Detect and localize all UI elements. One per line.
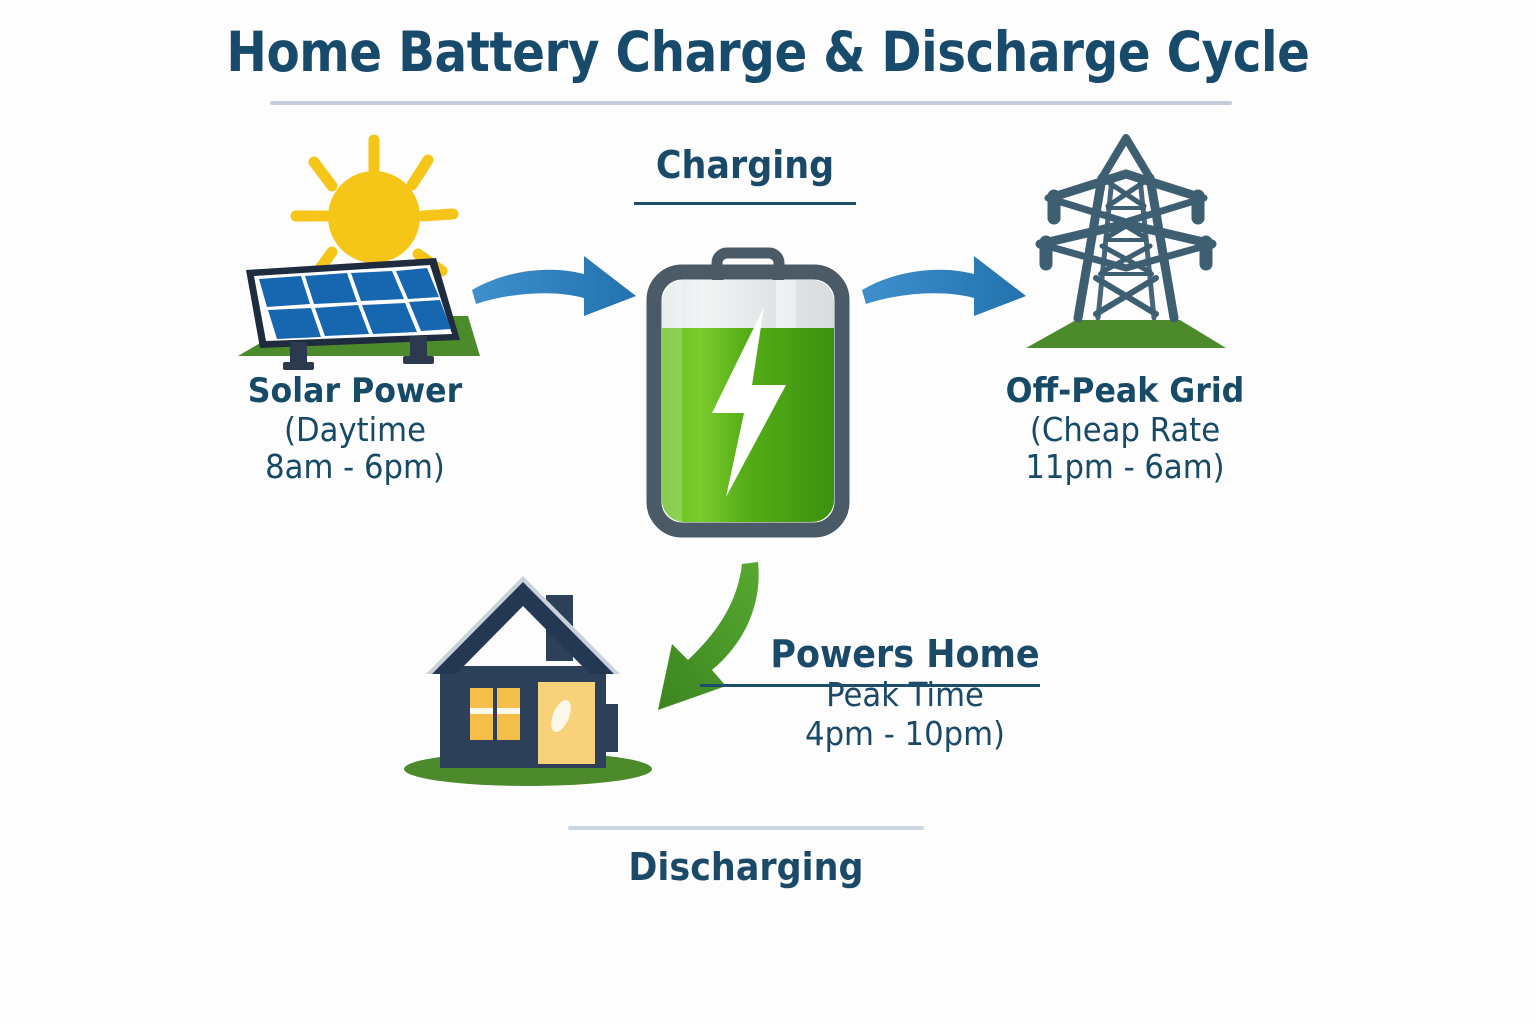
page-title: Home Battery Charge & Discharge Cycle xyxy=(92,20,1444,84)
off-peak-grid-subtitle-2: 11pm - 6am) xyxy=(986,448,1265,486)
powers-home-title: Powers Home xyxy=(716,632,1093,676)
discharging-divider xyxy=(568,826,924,830)
transmission-pylon-icon xyxy=(1020,122,1232,352)
title-divider xyxy=(270,101,1232,105)
house-icon xyxy=(398,562,668,794)
charging-underline xyxy=(634,202,856,205)
sun-disc xyxy=(328,171,420,263)
powers-home-subtitle-2: 4pm - 10pm) xyxy=(714,715,1095,754)
stage-label-discharging: Discharging xyxy=(562,845,930,889)
roof xyxy=(432,582,614,674)
arrow-body xyxy=(862,256,1026,316)
solar-power-title: Solar Power xyxy=(216,372,495,411)
arrow-body xyxy=(472,256,636,316)
powers-home-subtitle-1: Peak Time xyxy=(714,676,1095,715)
arrow-solar-to-battery xyxy=(468,252,640,332)
infographic-canvas: Home Battery Charge & Discharge Cycle xyxy=(0,0,1536,1024)
solar-power-label: Solar Power (Daytime 8am - 6pm) xyxy=(205,372,505,486)
off-peak-grid-subtitle-1: (Cheap Rate xyxy=(986,411,1265,449)
off-peak-grid-title: Off-Peak Grid xyxy=(986,372,1265,411)
solar-power-subtitle-1: (Daytime xyxy=(216,411,495,449)
ground-patch xyxy=(1026,320,1226,348)
arrow-battery-to-grid xyxy=(858,252,1030,332)
off-peak-grid-label: Off-Peak Grid (Cheap Rate 11pm - 6am) xyxy=(975,372,1275,486)
solar-panel-with-sun-icon xyxy=(228,128,490,360)
charging-battery-icon xyxy=(640,245,856,550)
powers-home-underline xyxy=(700,684,1040,687)
stage-label-charging: Charging xyxy=(612,143,879,187)
solar-power-subtitle-2: 8am - 6pm) xyxy=(216,448,495,486)
house-extension xyxy=(594,704,618,752)
powers-home-caption: Powers Home Peak Time 4pm - 10pm) xyxy=(700,632,1110,754)
